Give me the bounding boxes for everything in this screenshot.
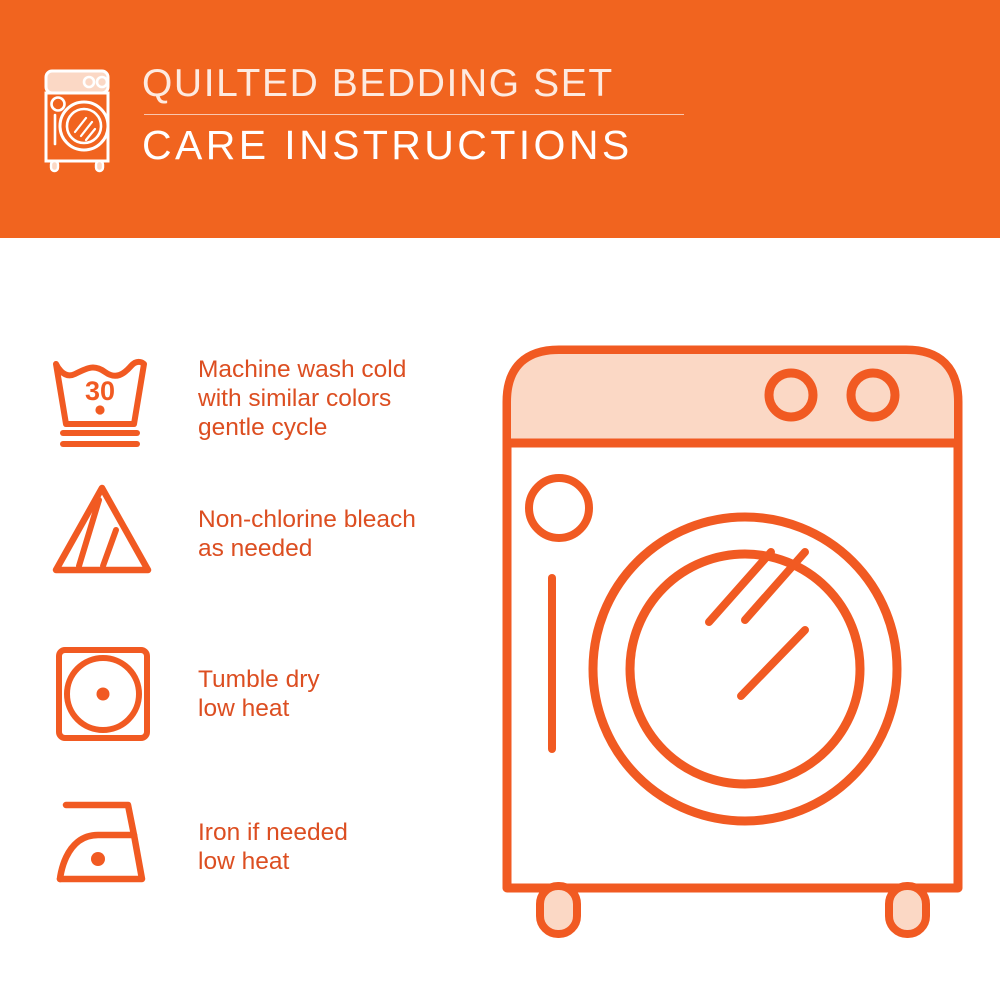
care-item-label: Tumble dry low heat — [198, 665, 320, 723]
foot-left — [540, 886, 577, 934]
page-subtitle: CARE INSTRUCTIONS — [142, 122, 684, 168]
front-load-washing-machine-illustration — [495, 330, 970, 940]
care-item-tumble-dry: Tumble dry low heat — [46, 638, 320, 750]
header-banner: QUILTED BEDDING SET CARE INSTRUCTIONS — [0, 0, 1000, 238]
iron-low-heat-icon — [46, 791, 164, 903]
wash-tub-30-gentle-icon: 30 — [46, 342, 164, 454]
care-item-iron: Iron if needed low heat — [46, 791, 348, 903]
care-item-label: Machine wash cold with similar colors ge… — [198, 355, 406, 442]
page-title: QUILTED BEDDING SET — [142, 62, 684, 106]
header-content: QUILTED BEDDING SET CARE INSTRUCTIONS — [42, 62, 684, 174]
care-item-label: Iron if needed low heat — [198, 818, 348, 876]
header-text-block: QUILTED BEDDING SET CARE INSTRUCTIONS — [142, 62, 684, 168]
control-panel — [511, 354, 954, 442]
washing-machine-icon — [42, 68, 120, 174]
tumble-dry-low-icon — [46, 638, 164, 750]
header-divider — [144, 114, 684, 115]
care-item-bleach: Non-chlorine bleach as needed — [46, 478, 416, 590]
non-chlorine-bleach-triangle-icon — [46, 478, 164, 590]
care-item-machine-wash: 30 Machine wash cold with similar colors… — [46, 342, 406, 454]
care-instructions-list: 30 Machine wash cold with similar colors… — [0, 238, 480, 1000]
care-item-label: Non-chlorine bleach as needed — [198, 505, 416, 563]
foot-right — [889, 886, 926, 934]
wash-temperature-label: 30 — [85, 376, 115, 406]
